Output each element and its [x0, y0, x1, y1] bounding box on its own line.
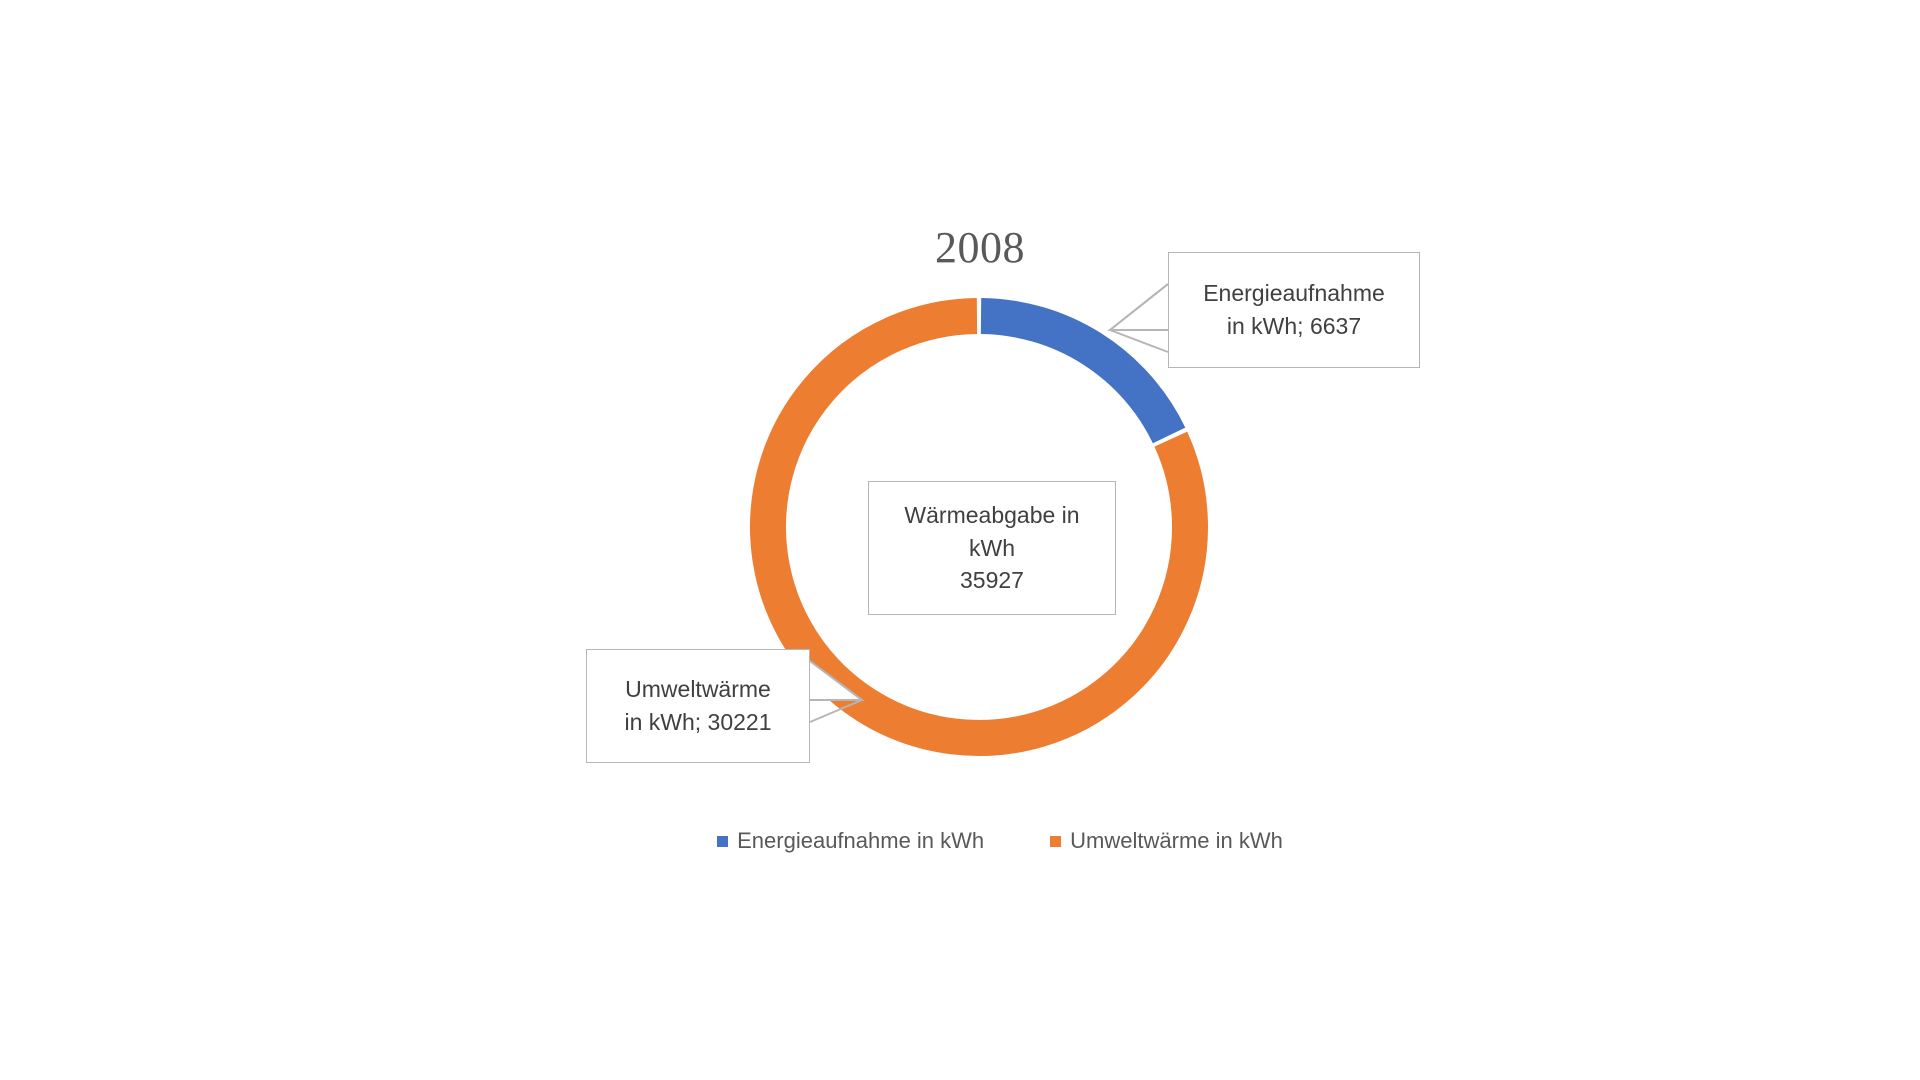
- doughnut-slice[interactable]: [981, 316, 1169, 435]
- square-marker-icon: [1050, 836, 1061, 847]
- callout-umweltwaerme-line-1: Umweltwärme: [625, 673, 771, 706]
- chart-canvas: 2008 Wärmeabgabe in kWh 35927 Energieauf…: [0, 0, 1920, 1080]
- data-label-callout-umweltwaerme: Umweltwärme in kWh; 30221: [586, 649, 810, 763]
- center-label-line-2: kWh: [969, 532, 1015, 565]
- callout-energieaufnahme-line-1: Energieaufnahme: [1203, 277, 1385, 310]
- legend-item[interactable]: Energieaufnahme in kWh: [717, 828, 984, 854]
- center-label-line-1: Wärmeabgabe in: [904, 499, 1079, 532]
- chart-title: 2008: [860, 222, 1100, 273]
- center-label-line-3: 35927: [960, 564, 1024, 597]
- square-marker-icon: [717, 836, 728, 847]
- chart-legend: Energieaufnahme in kWhUmweltwärme in kWh: [560, 828, 1440, 854]
- data-label-callout-energieaufnahme: Energieaufnahme in kWh; 6637: [1168, 252, 1420, 368]
- legend-item[interactable]: Umweltwärme in kWh: [1050, 828, 1283, 854]
- callout-umweltwaerme-line-2: in kWh; 30221: [624, 706, 771, 739]
- legend-item-label: Energieaufnahme in kWh: [737, 828, 984, 854]
- legend-item-label: Umweltwärme in kWh: [1070, 828, 1283, 854]
- center-data-label: Wärmeabgabe in kWh 35927: [868, 481, 1116, 615]
- callout-energieaufnahme-line-2: in kWh; 6637: [1227, 310, 1361, 343]
